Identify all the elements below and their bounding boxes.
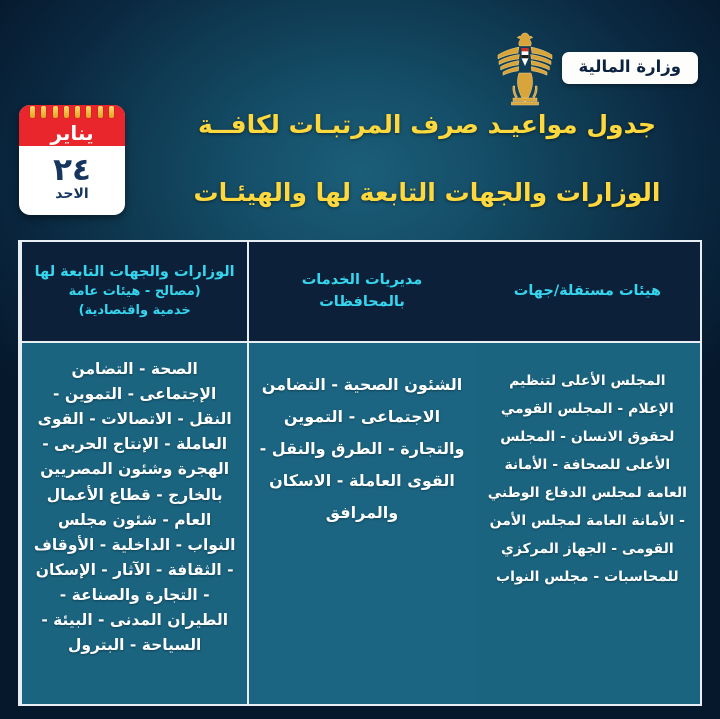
column-body-text-ministries: الصحة - التضامن الإجتماعى - التموين - ال… (32, 357, 237, 658)
column-header-service-directorates: مديريات الخدمات بالمحافظات (249, 242, 474, 343)
column-body-service-directorates: الشئون الصحية - التضامن الاجتماعى - التم… (249, 343, 474, 704)
column-body-text-independent-bodies: المجلس الأعلى لتنظيم الإعلام - المجلس ال… (485, 357, 690, 591)
column-body-text-service-directorates: الشئون الصحية - التضامن الاجتماعى - التم… (259, 357, 464, 529)
calendar-month-label: يناير (50, 123, 93, 143)
calendar-day-number: ٢٤ (53, 155, 91, 186)
column-header-main2-service-directorates: بالمحافظات (319, 292, 405, 313)
page-title: جدول مواعيـد صرف المرتبـات لكافــة الوزا… (148, 110, 706, 207)
table-column-independent-bodies: هيئات مستقلة/جهات المجلس الأعلى لتنظيم ا… (475, 242, 700, 704)
column-header-ministries: الوزارات والجهات التابعة لها (مصالح - هي… (22, 242, 247, 343)
column-header-sub1-ministries: (مصالح - هيئات عامة (69, 283, 201, 302)
table-column-service-directorates: مديريات الخدمات بالمحافظات الشئون الصحية… (247, 242, 474, 704)
calendar-icon: يناير ٢٤ الاحد (19, 105, 125, 215)
column-header-main-independent-bodies: هيئات مستقلة/جهات (514, 281, 661, 302)
table-column-ministries: الوزارات والجهات التابعة لها (مصالح - هي… (20, 242, 247, 704)
calendar-binding-rings (19, 106, 125, 119)
column-header-independent-bodies: هيئات مستقلة/جهات (475, 242, 700, 343)
poster-root: وزارة المالية (0, 0, 720, 719)
calendar-date-area: ٢٤ الاحد (19, 146, 125, 215)
ministry-name-plate: وزارة المالية (562, 52, 698, 84)
ministry-branding: وزارة المالية (496, 28, 698, 108)
title-line-1: جدول مواعيـد صرف المرتبـات لكافــة (148, 110, 706, 140)
column-body-ministries: الصحة - التضامن الإجتماعى - التموين - ال… (22, 343, 247, 704)
egypt-eagle-of-saladin-icon (496, 28, 554, 108)
column-header-main-ministries: الوزارات والجهات التابعة لها (35, 262, 235, 283)
title-line-2: الوزارات والجهات التابعة لها والهيئـات (148, 178, 706, 208)
column-body-independent-bodies: المجلس الأعلى لتنظيم الإعلام - المجلس ال… (475, 343, 700, 704)
column-header-main1-service-directorates: مديريات الخدمات (302, 270, 423, 291)
salary-schedule-table: الوزارات والجهات التابعة لها (مصالح - هي… (18, 240, 702, 706)
column-header-sub2-ministries: خدمية واقتصادية) (79, 302, 191, 321)
ministry-name: وزارة المالية (579, 59, 681, 76)
calendar-weekday-label: الاحد (55, 187, 88, 202)
